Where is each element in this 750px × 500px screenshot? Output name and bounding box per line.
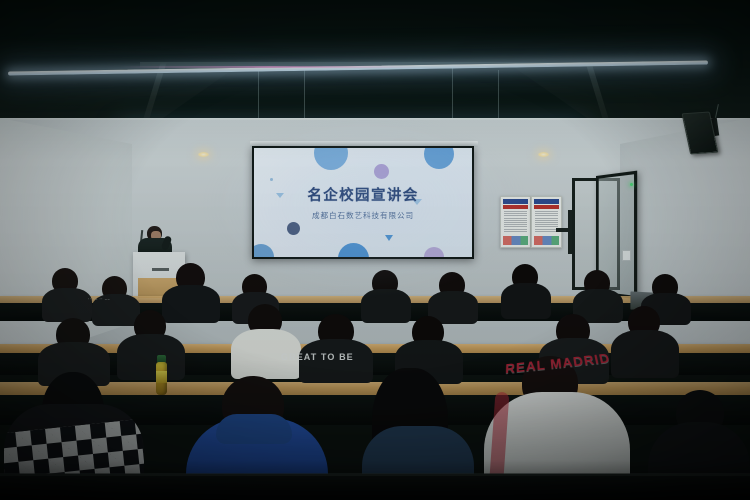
safety-poster-right (531, 196, 562, 248)
front-bench-edge (0, 473, 750, 476)
slide-circle-bottom-left (254, 244, 274, 257)
downlight-left (198, 152, 209, 157)
slide-circle-bottom-lavender (424, 247, 444, 257)
slide-title-bullet (287, 222, 300, 235)
downlight-right (538, 152, 549, 157)
slide-circle-bottom-mid (338, 243, 369, 257)
hoodie-hood (216, 414, 292, 444)
lectern-panel (152, 268, 169, 271)
light-switch[interactable] (622, 250, 631, 261)
presentation-slide: 名企校园宣讲会 成都白石数艺科技有限公司 (254, 148, 472, 257)
safety-poster-left (500, 196, 531, 248)
ceiling-light-tint-front (120, 66, 420, 68)
slide-dot-small (270, 178, 273, 181)
slide-circle-1 (314, 148, 348, 170)
slide-subtitle: 成都白石数艺科技有限公司 (254, 210, 472, 221)
lecture-hall-photo: 名企校园宣讲会 成都白石数艺科技有限公司 (0, 0, 750, 500)
projection-screen: 名企校园宣讲会 成都白石数艺科技有限公司 (252, 146, 474, 259)
door-status-led-icon (630, 183, 633, 186)
desk-row-front (0, 382, 750, 395)
slide-circle-lavender-top (374, 164, 389, 179)
slide-title: 名企校园宣讲会 (254, 184, 472, 205)
bottle-label (156, 371, 167, 383)
front-bench-rail (0, 474, 750, 500)
slide-triangle-bottom (385, 235, 393, 241)
slide-circle-2 (424, 148, 454, 169)
